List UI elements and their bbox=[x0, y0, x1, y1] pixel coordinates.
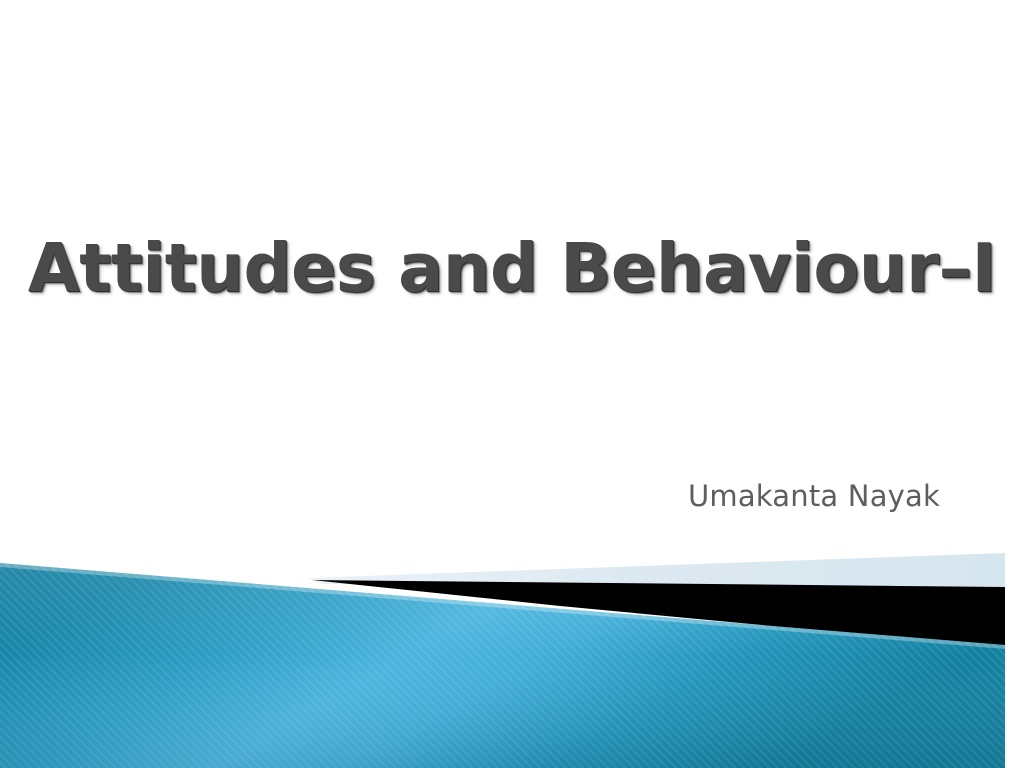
teal-shape bbox=[0, 563, 1005, 768]
teal-edge-highlight bbox=[0, 563, 1005, 649]
black-wedge bbox=[312, 580, 1005, 648]
teal-shape-texture bbox=[0, 563, 1005, 768]
angles-decoration-svg bbox=[0, 0, 1024, 768]
subtitle-placeholder: Umakanta Nayak bbox=[688, 479, 940, 513]
teal-shape-shading bbox=[0, 563, 1005, 768]
author-name: Umakanta Nayak bbox=[688, 479, 940, 513]
angles-decoration-graphic bbox=[0, 0, 1024, 768]
presentation-slide: Attitudes and Behaviour–I Umakanta Nayak bbox=[0, 0, 1024, 768]
title-placeholder: Attitudes and Behaviour–I bbox=[0, 232, 1024, 304]
pale-blue-band bbox=[308, 553, 1005, 590]
page-title: Attitudes and Behaviour–I bbox=[28, 232, 996, 304]
right-margin-strip bbox=[1005, 540, 1024, 768]
